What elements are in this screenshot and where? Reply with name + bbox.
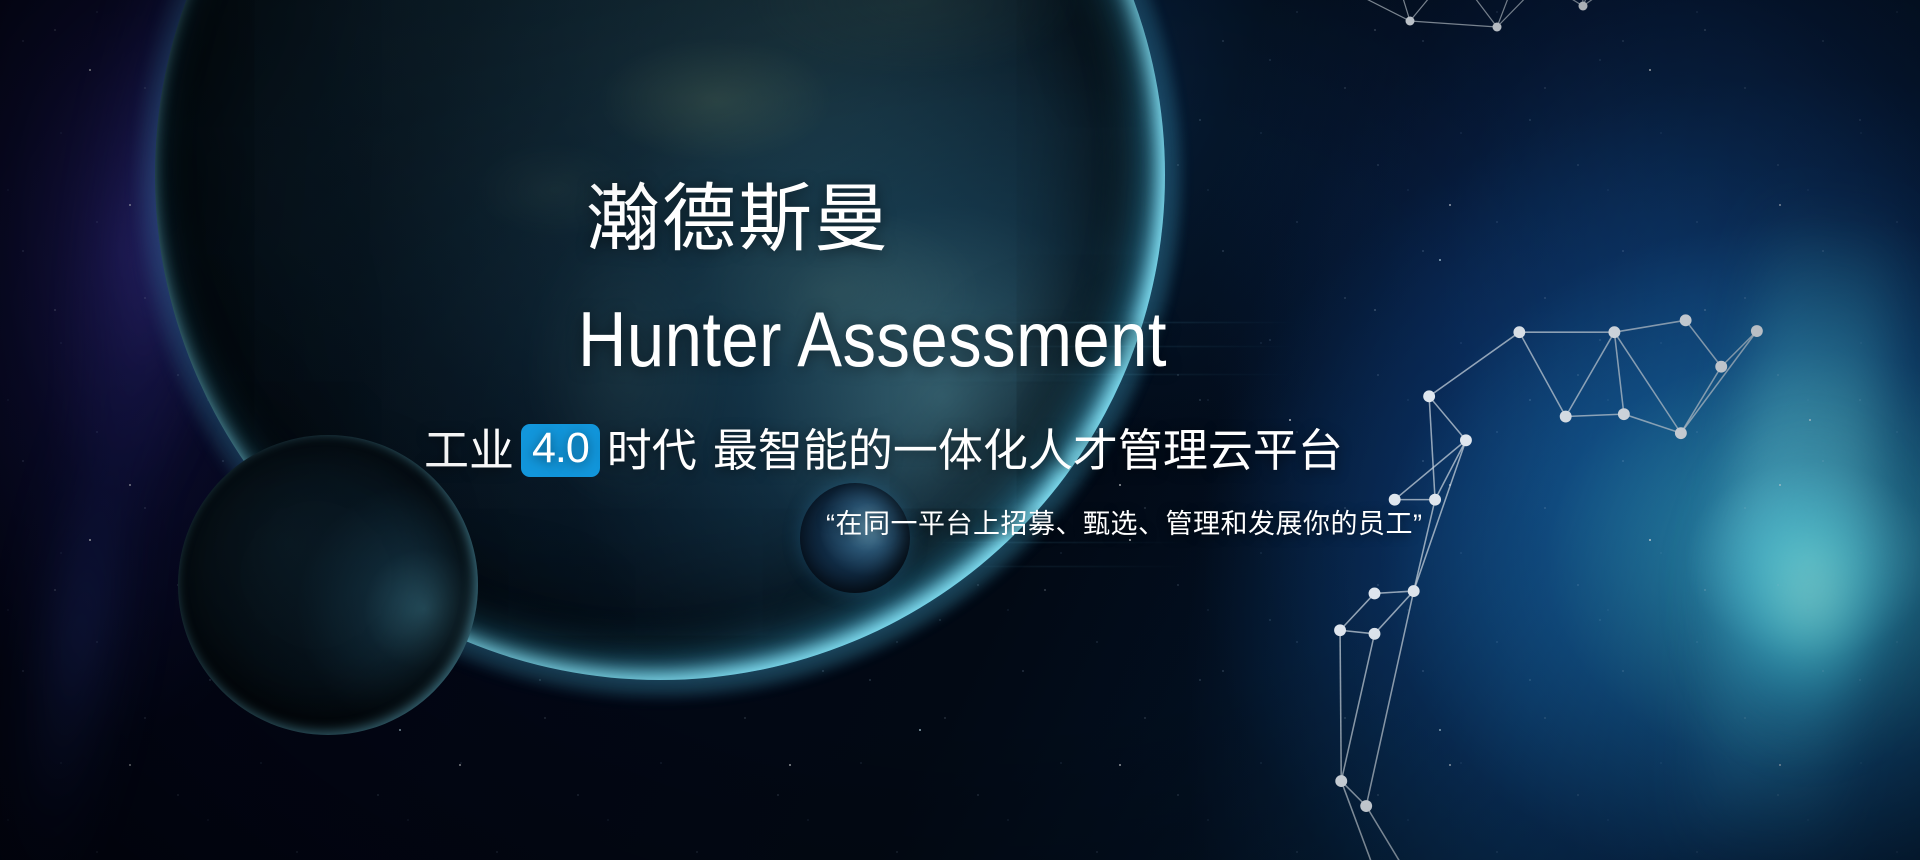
industry-version-badge: 4.0: [521, 424, 600, 476]
brand-name-english: Hunter Assessment: [578, 300, 1167, 378]
tagline: 工业 4.0 时代 最智能的一体化人才管理云平台: [424, 424, 1343, 477]
hero-banner: 瀚德斯曼 Hunter Assessment 工业 4.0 时代 最智能的一体化…: [0, 0, 1920, 860]
tagline-after-badge: 时代: [607, 424, 697, 477]
tagline-rest: 最智能的一体化人才管理云平台: [713, 424, 1343, 477]
brand-name-chinese: 瀚德斯曼: [586, 182, 890, 256]
tagline-before-badge: 工业: [424, 424, 514, 477]
dark-moon: [178, 435, 478, 735]
subtitle-quote: “在同一平台上招募、甄选、管理和发展你的员工”: [826, 508, 1422, 540]
